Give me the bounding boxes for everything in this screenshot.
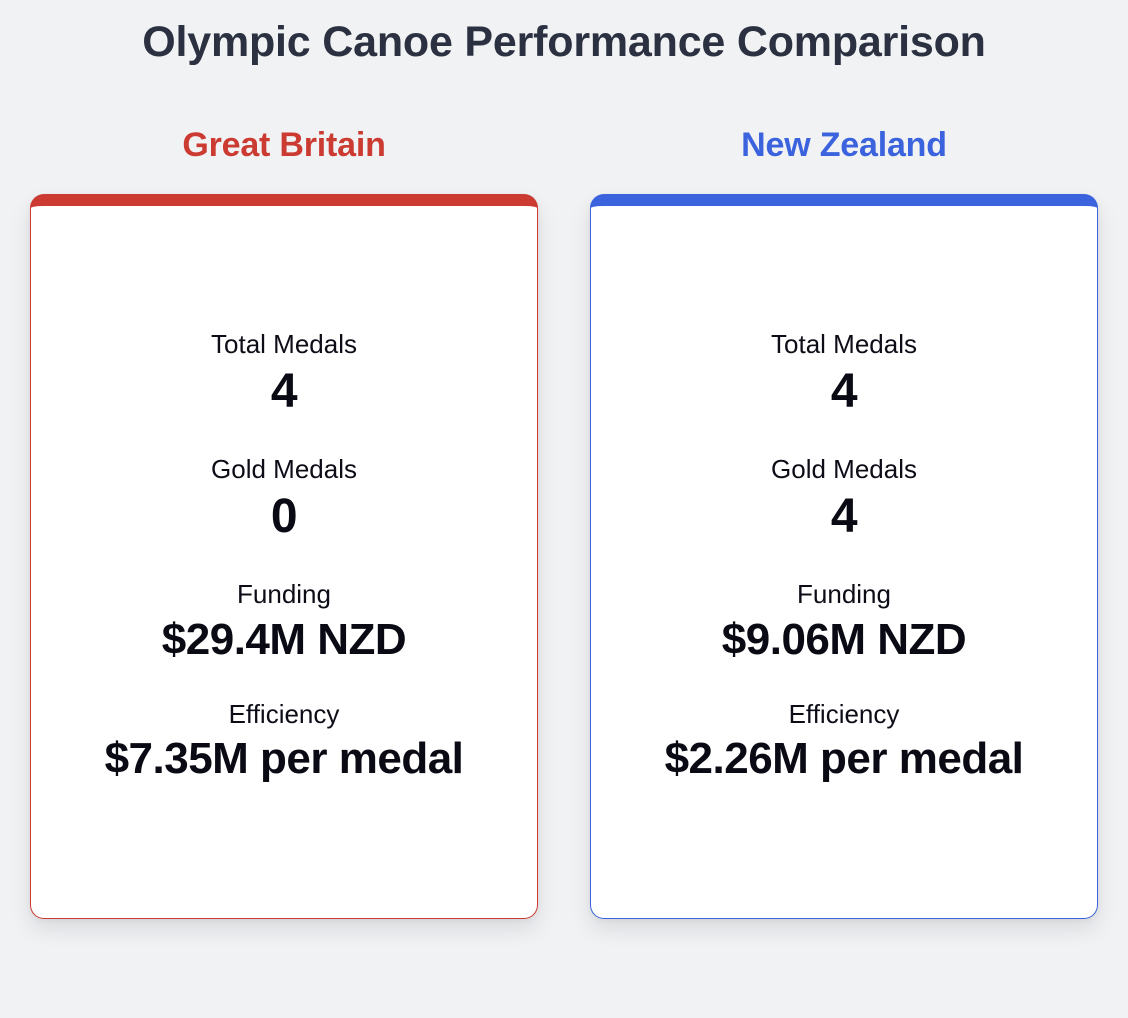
stat-label-efficiency: Efficiency [607, 698, 1081, 731]
stat-label-gold-medals: Gold Medals [47, 453, 521, 486]
comparison-page: Olympic Canoe Performance Comparison Gre… [0, 0, 1128, 1018]
stat-label-gold-medals: Gold Medals [607, 453, 1081, 486]
stat-block-efficiency: Efficiency $7.35M per medal [47, 698, 521, 788]
stat-value-total-medals: 4 [607, 361, 1081, 423]
stat-block-total-medals: Total Medals 4 [607, 328, 1081, 423]
stat-value-gold-medals: 4 [607, 486, 1081, 548]
stat-label-funding: Funding [47, 578, 521, 611]
stat-value-efficiency: $2.26M per medal [607, 730, 1081, 787]
stat-value-funding: $9.06M NZD [607, 611, 1081, 668]
stat-value-gold-medals: 0 [47, 486, 521, 548]
team-name-great-britain: Great Britain [30, 127, 538, 164]
stat-value-efficiency: $7.35M per medal [47, 730, 521, 787]
stat-card-new-zealand: Total Medals 4 Gold Medals 4 Funding $9.… [590, 194, 1098, 919]
stat-value-funding: $29.4M NZD [47, 611, 521, 668]
stat-label-total-medals: Total Medals [47, 328, 521, 361]
stat-card-great-britain: Total Medals 4 Gold Medals 0 Funding $29… [30, 194, 538, 919]
team-column-great-britain: Great Britain Total Medals 4 Gold Medals… [30, 127, 538, 918]
team-cards-row: Great Britain Total Medals 4 Gold Medals… [0, 127, 1128, 918]
stat-block-funding: Funding $9.06M NZD [607, 578, 1081, 668]
stat-label-efficiency: Efficiency [47, 698, 521, 731]
stat-block-funding: Funding $29.4M NZD [47, 578, 521, 668]
stat-label-total-medals: Total Medals [607, 328, 1081, 361]
stat-label-funding: Funding [607, 578, 1081, 611]
stat-block-total-medals: Total Medals 4 [47, 328, 521, 423]
team-name-new-zealand: New Zealand [590, 127, 1098, 164]
team-column-new-zealand: New Zealand Total Medals 4 Gold Medals 4… [590, 127, 1098, 918]
page-title: Olympic Canoe Performance Comparison [0, 0, 1128, 67]
stat-block-gold-medals: Gold Medals 4 [607, 453, 1081, 548]
stat-block-gold-medals: Gold Medals 0 [47, 453, 521, 548]
stat-value-total-medals: 4 [47, 361, 521, 423]
stat-block-efficiency: Efficiency $2.26M per medal [607, 698, 1081, 788]
